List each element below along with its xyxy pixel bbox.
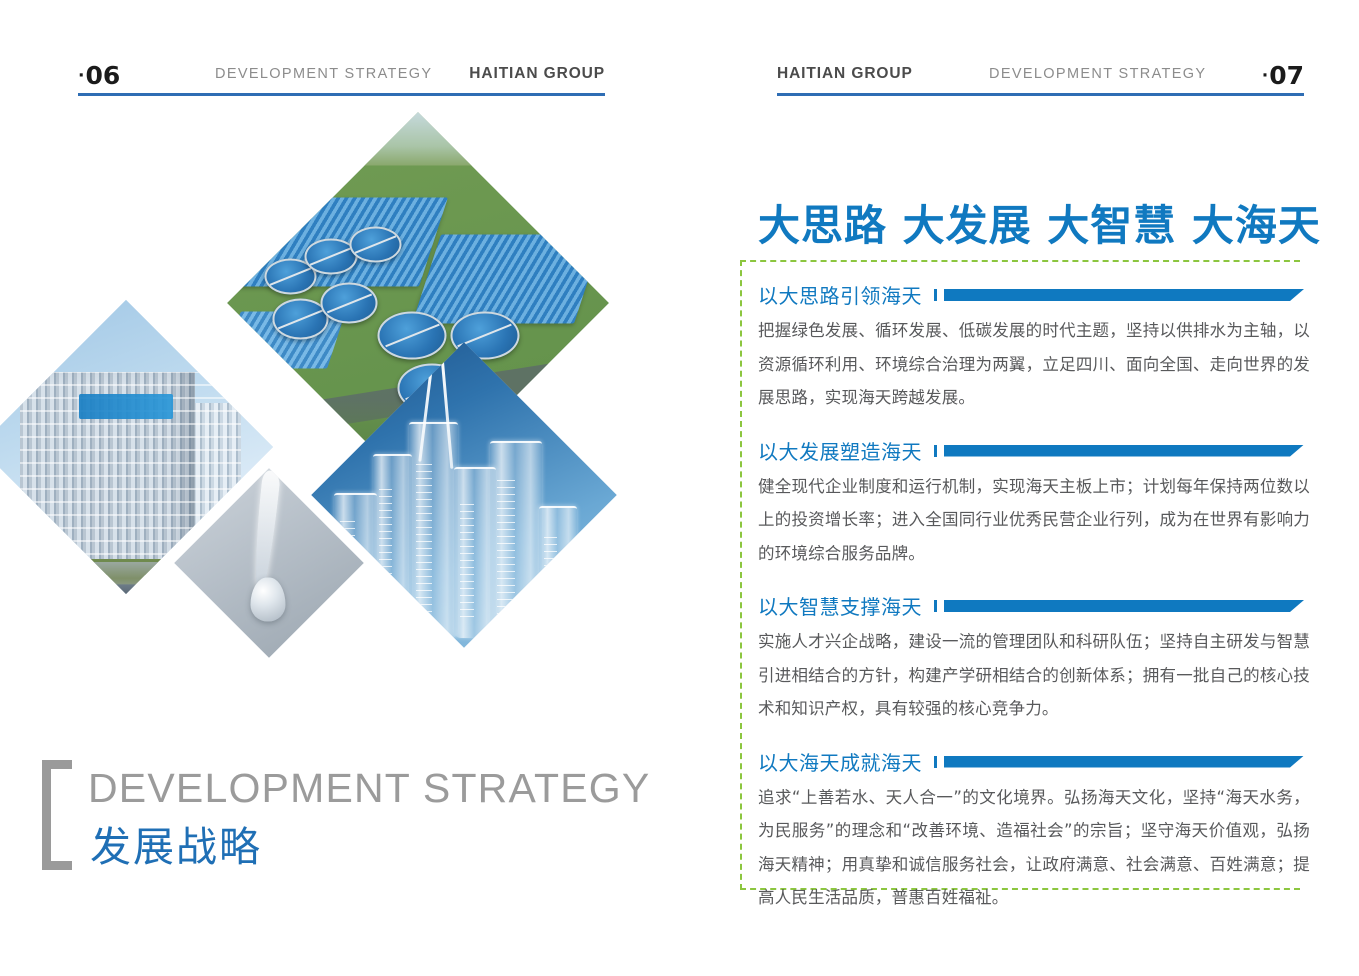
plant-roof-row-2 — [412, 234, 603, 323]
strategy-section: 以大发展塑造海天 健全现代企业制度和运行机制，实现海天主板上市；计划每年保持两位… — [758, 436, 1318, 571]
left-page-title-block: DEVELOPMENT STRATEGY 发展战略 — [42, 760, 642, 880]
section-arrow-bar — [944, 445, 1304, 457]
section-tick-marker — [934, 756, 937, 768]
strategy-section-header: 以大智慧支撑海天 — [758, 591, 1318, 621]
headline: 大思路 大发展 大智慧 大海天 — [758, 192, 1321, 253]
right-header-section-label: DEVELOPMENT STRATEGY — [989, 66, 1206, 82]
left-page-number: ·06 — [78, 62, 120, 90]
right-header-row: HAITIAN GROUP DEVELOPMENT STRATEGY ·07 — [777, 62, 1304, 92]
strategy-section: 以大智慧支撑海天 实施人才兴企战略，建设一流的管理团队和科研队伍；坚持自主研发与… — [758, 591, 1318, 726]
clarifier-tank — [349, 226, 402, 262]
right-page-number: ·07 — [1262, 62, 1304, 90]
page-number-dot: · — [78, 62, 84, 90]
left-header-row: ·06 DEVELOPMENT STRATEGY HAITIAN GROUP — [78, 62, 605, 92]
strategy-section-title: 以大思路引领海天 — [758, 280, 922, 309]
test-tube — [373, 454, 412, 637]
strategy-section-header: 以大思路引领海天 — [758, 280, 1318, 310]
test-tube — [409, 422, 458, 638]
page-title-english: DEVELOPMENT STRATEGY — [88, 765, 650, 812]
building-logo-sign — [79, 394, 173, 419]
strategy-section-header: 以大发展塑造海天 — [758, 436, 1318, 466]
section-tick-marker — [934, 600, 937, 612]
strategy-section: 以大思路引领海天 把握绿色发展、循环发展、低碳发展的时代主题，坚持以供排水为主轴… — [758, 280, 1318, 415]
strategy-section-title: 以大发展塑造海天 — [758, 436, 922, 465]
water-droplet — [251, 577, 285, 621]
diamond-photo-collage — [0, 150, 620, 650]
test-tube — [490, 441, 542, 637]
right-header-brand: HAITIAN GROUP — [777, 65, 913, 83]
page-number-dot: · — [1262, 62, 1268, 90]
strategy-section-title: 以大智慧支撑海天 — [758, 591, 922, 620]
strategy-section-title: 以大海天成就海天 — [758, 747, 922, 776]
section-arrow-bar — [944, 600, 1304, 612]
right-header-rule — [777, 93, 1304, 96]
section-arrow-bar — [944, 289, 1304, 301]
clarifier-tank — [378, 311, 447, 360]
test-tube — [539, 506, 578, 638]
page-number-value: 06 — [85, 61, 120, 90]
page-title-chinese: 发展战略 — [90, 813, 262, 873]
left-header-rule — [78, 93, 605, 96]
brochure-spread: ·06 DEVELOPMENT STRATEGY HAITIAN GROUP H… — [0, 0, 1359, 976]
bracket-decoration — [42, 760, 72, 870]
clarifier-tank — [321, 283, 378, 324]
left-header-section-label: DEVELOPMENT STRATEGY — [215, 66, 432, 82]
strategy-section-list: 以大思路引领海天 把握绿色发展、循环发展、低碳发展的时代主题，坚持以供排水为主轴… — [758, 280, 1318, 936]
strategy-section-header: 以大海天成就海天 — [758, 747, 1318, 777]
left-header-brand: HAITIAN GROUP — [469, 65, 605, 83]
section-arrow-bar — [944, 756, 1304, 768]
plant-sky — [227, 112, 609, 165]
strategy-section-body: 健全现代企业制度和运行机制，实现海天主板上市；计划每年保持两位数以上的投资增长率… — [758, 470, 1310, 571]
strategy-section-body: 追求“上善若水、天人合一”的文化境界。弘扬海天文化，坚持“海天水务，为民服务”的… — [758, 781, 1310, 915]
strategy-section: 以大海天成就海天 追求“上善若水、天人合一”的文化境界。弘扬海天文化，坚持“海天… — [758, 747, 1318, 915]
strategy-section-body: 把握绿色发展、循环发展、低碳发展的时代主题，坚持以供排水为主轴，以资源循环利用、… — [758, 314, 1310, 415]
section-tick-marker — [934, 445, 937, 457]
left-page-header: ·06 DEVELOPMENT STRATEGY HAITIAN GROUP — [78, 62, 605, 102]
page-number-value: 07 — [1269, 61, 1304, 90]
section-tick-marker — [934, 289, 937, 301]
right-page-header: HAITIAN GROUP DEVELOPMENT STRATEGY ·07 — [777, 62, 1304, 102]
strategy-section-body: 实施人才兴企战略，建设一流的管理团队和科研队伍；坚持自主研发与智慧引进相结合的方… — [758, 625, 1310, 726]
